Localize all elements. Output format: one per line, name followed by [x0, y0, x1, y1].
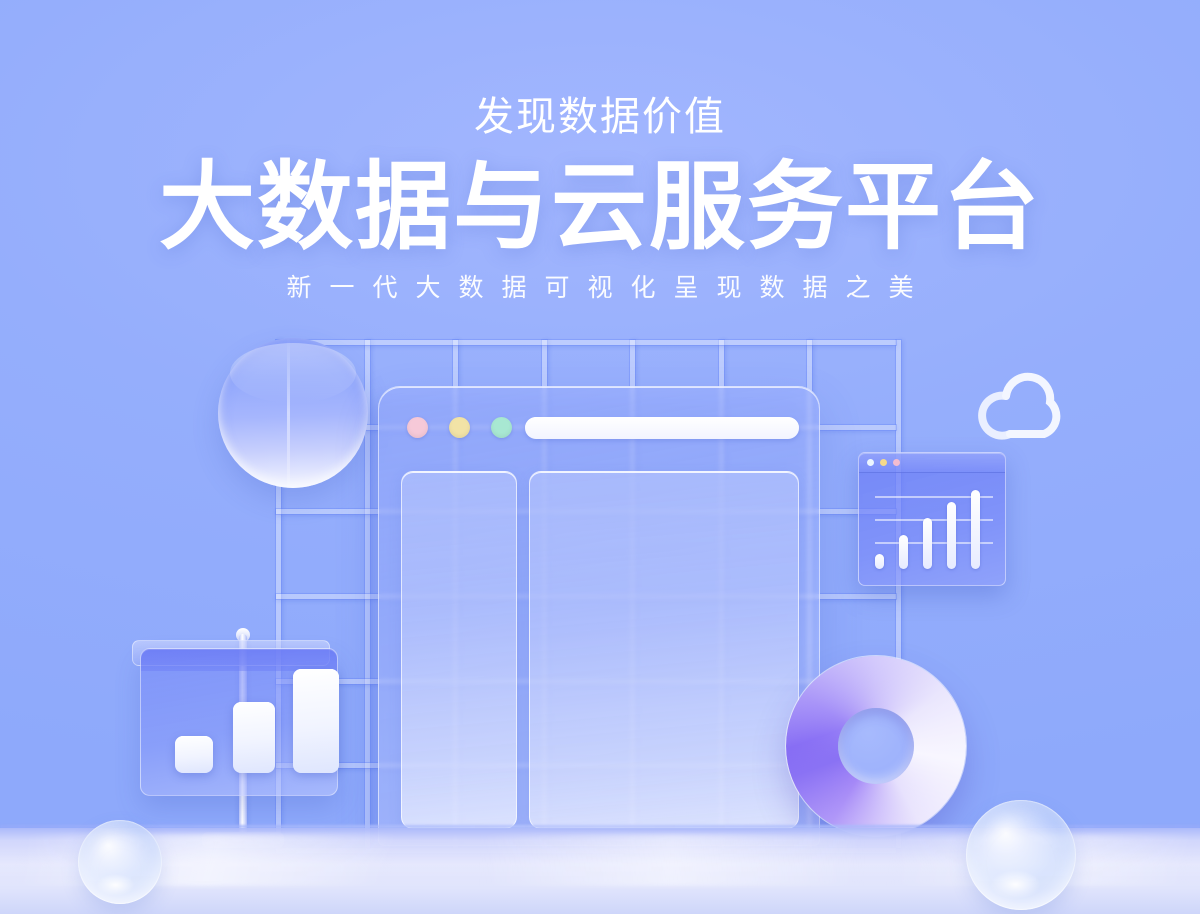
hero-tagline: 新一代大数据可视化呈现数据之美	[0, 259, 1200, 303]
content-panel[interactable]	[529, 471, 799, 829]
glass-torus	[786, 656, 966, 836]
maximize-dot[interactable]	[893, 459, 900, 466]
hero-copy: 发现数据价值 大数据与云服务平台 新一代大数据可视化呈现数据之美	[0, 0, 1200, 303]
browser-titlebar	[379, 387, 819, 459]
card-bar-chart	[141, 649, 337, 795]
minimize-dot[interactable]	[449, 417, 470, 438]
hero-banner: 发现数据价值 大数据与云服务平台 新一代大数据可视化呈现数据之美	[0, 0, 1200, 914]
grid-line-horizontal	[276, 340, 896, 345]
mini-chart-window[interactable]	[858, 452, 1006, 586]
hero-eyebrow: 发现数据价值	[0, 0, 1200, 140]
chart-card[interactable]	[140, 648, 338, 796]
glass-sphere-right	[966, 800, 1076, 910]
minimize-dot[interactable]	[880, 459, 887, 466]
glass-disc	[218, 338, 368, 488]
maximize-dot[interactable]	[491, 417, 512, 438]
close-dot[interactable]	[867, 459, 874, 466]
chart-bar	[947, 502, 956, 569]
close-dot[interactable]	[407, 417, 428, 438]
hero-headline: 大数据与云服务平台	[0, 140, 1200, 259]
glass-sphere-left	[78, 820, 162, 904]
mini-titlebar	[859, 453, 1005, 473]
chart-bar	[233, 702, 275, 773]
url-bar[interactable]	[525, 417, 799, 439]
chart-bar	[875, 554, 884, 569]
chart-bar	[899, 535, 908, 569]
cloud-icon	[976, 362, 1068, 440]
browser-window[interactable]	[378, 386, 820, 846]
sidebar-panel[interactable]	[401, 471, 517, 829]
torus-hole	[838, 708, 914, 784]
chart-bar	[293, 669, 339, 773]
mini-bar-chart	[859, 472, 1005, 585]
chart-bar	[175, 736, 213, 773]
chart-bar	[923, 518, 932, 569]
chart-bar	[971, 490, 980, 569]
